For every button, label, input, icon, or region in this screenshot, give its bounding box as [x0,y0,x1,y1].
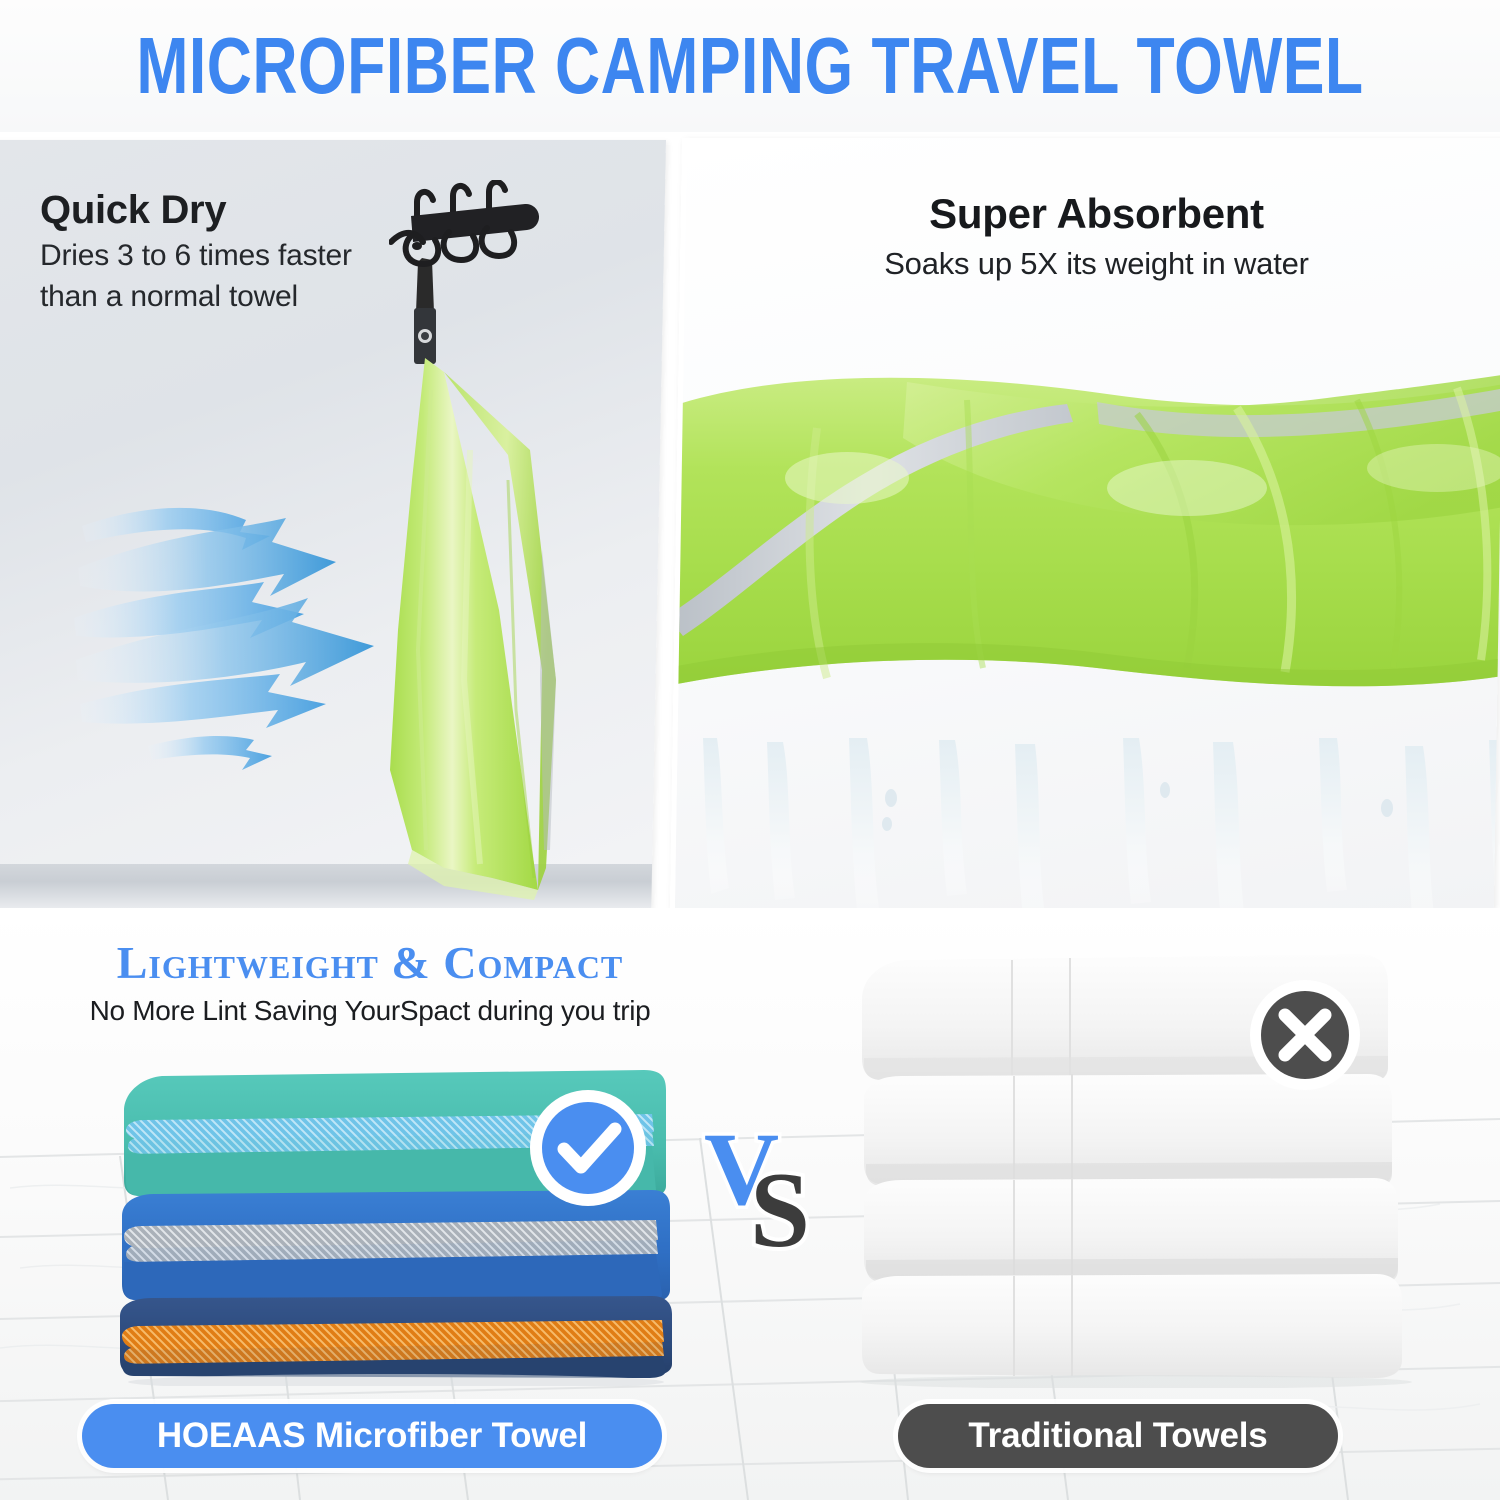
x-badge-icon [1247,977,1363,1093]
quick-dry-text-block: Quick Dry Dries 3 to 6 times faster than… [40,188,352,315]
super-absorbent-subtitle: Soaks up 5X its weight in water [687,246,1500,282]
lightweight-subtitle: No More Lint Saving YourSpact during you… [0,995,740,1027]
quick-dry-subtitle-line-2: than a normal towel [40,278,352,315]
title-bar: MICROFIBER CAMPING TRAVEL TOWEL [0,0,1500,132]
quick-dry-heading: Quick Dry [40,188,352,233]
versus-letter-s: S [750,1151,810,1263]
check-badge-icon [527,1087,649,1209]
lightweight-heading: Lightweight & Compact [0,936,740,989]
airflow-arrows-icon [74,490,454,790]
lightweight-text-block: Lightweight & Compact No More Lint Savin… [0,936,740,1027]
quick-dry-subtitle-line-1: Dries 3 to 6 times faster [40,237,352,274]
water-drips-image [687,738,1500,910]
traditional-towel-label-text: Traditional Towels [968,1416,1267,1456]
wet-twisted-towel-image [670,368,1500,788]
microfiber-towel-label-text: HOEAAS Microfiber Towel [157,1416,587,1456]
traditional-towel-label-pill: Traditional Towels [898,1404,1338,1468]
super-absorbent-text-block: Super Absorbent Soaks up 5X its weight i… [687,190,1500,282]
versus-badge: V S [700,1118,830,1263]
wall-hook-rack-icon [389,180,569,300]
microfiber-towel-label-pill: HOEAAS Microfiber Towel [82,1404,662,1468]
panel-quick-dry: Quick Dry Dries 3 to 6 times faster than… [0,140,666,908]
panel-super-absorbent: Super Absorbent Soaks up 5X its weight i… [670,138,1500,910]
page-title: MICROFIBER CAMPING TRAVEL TOWEL [136,20,1363,112]
traditional-towel-stack-image [836,948,1456,1388]
super-absorbent-heading: Super Absorbent [687,190,1500,238]
